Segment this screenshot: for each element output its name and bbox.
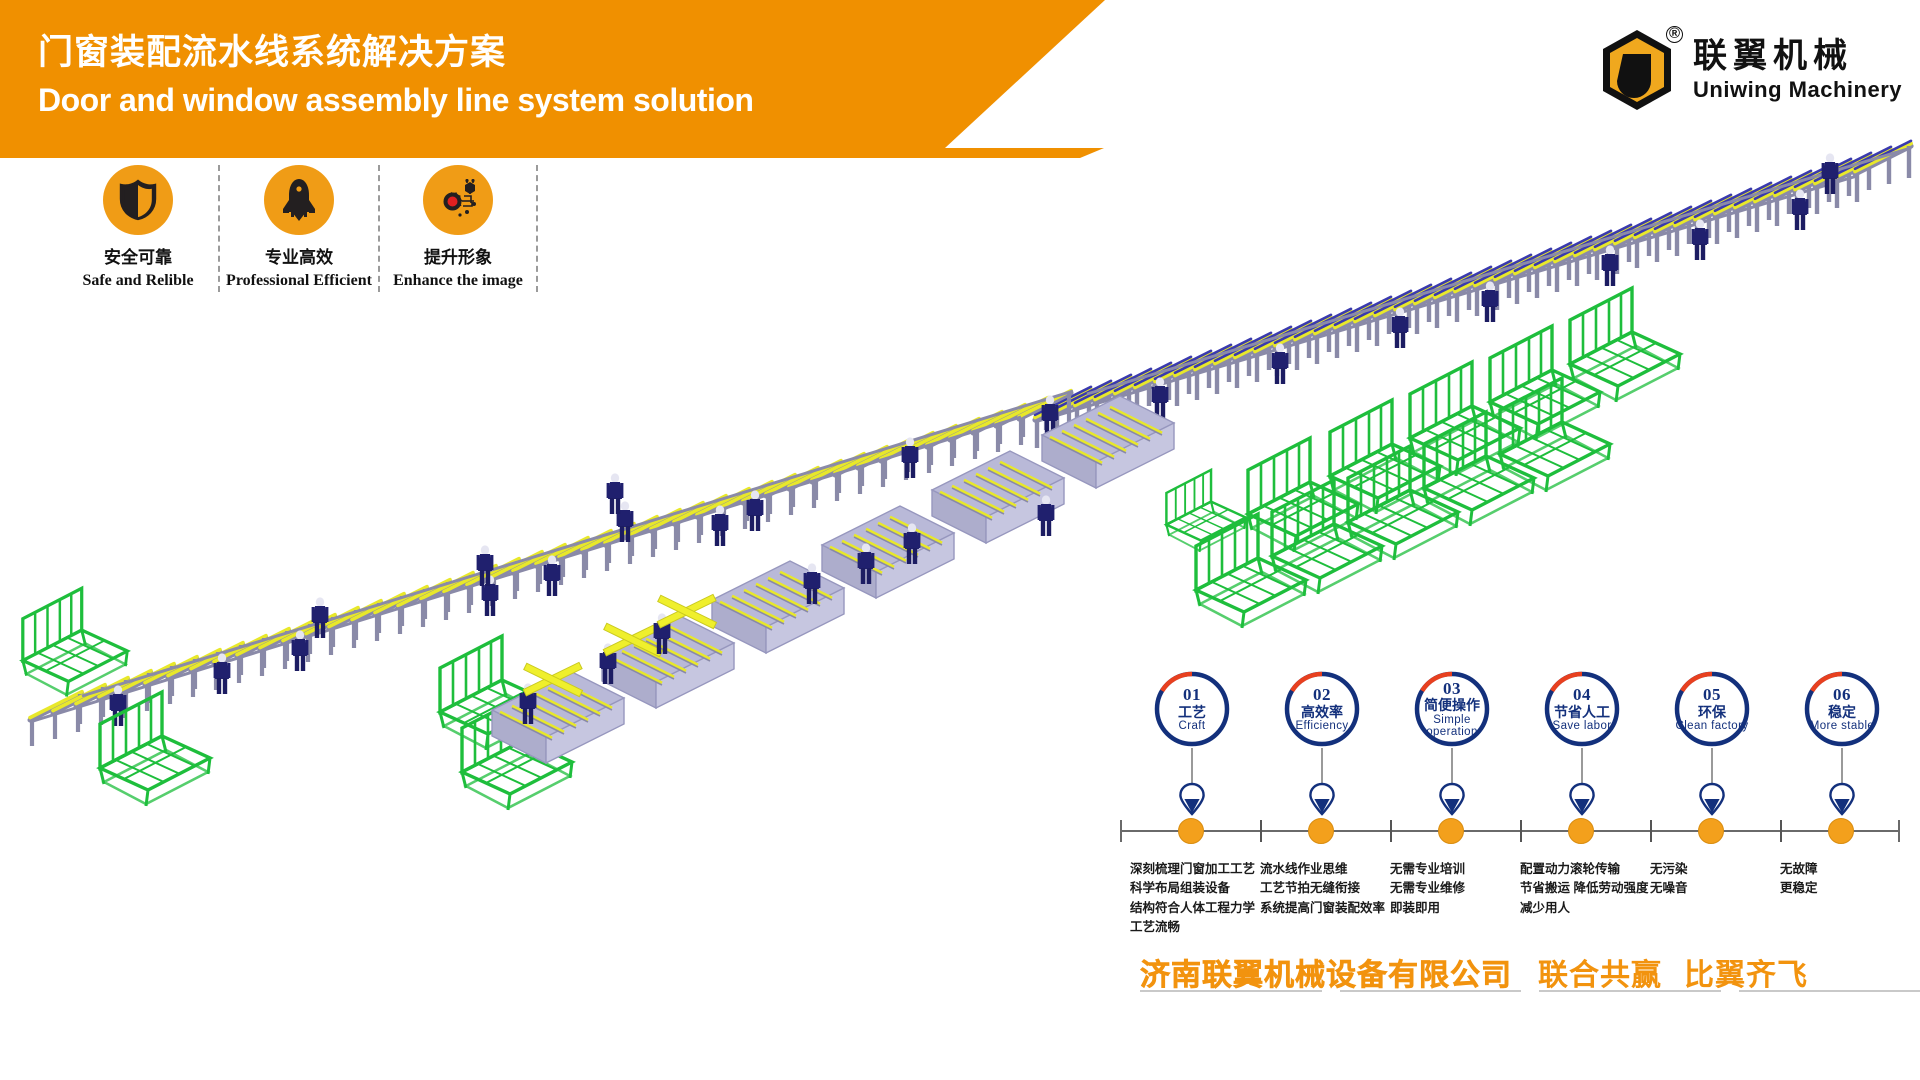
brand-name-cn: 联翼机械 — [1693, 37, 1902, 75]
page-title-cn: 门窗装配流水线系统解决方案 — [38, 34, 506, 73]
step-ring: 01 工艺 Craft — [1153, 670, 1231, 748]
step-description: 无故障 更稳定 — [1780, 860, 1920, 899]
uniwing-hexagon-u-logo-icon: ® — [1595, 24, 1679, 116]
step-number: 05 — [1703, 686, 1721, 704]
step-ring: 06 稳定 More stable — [1803, 670, 1881, 748]
step-stem — [1191, 748, 1193, 784]
poster-root: 门窗装配流水线系统解决方案 Door and window assembly l… — [0, 0, 1920, 1080]
company-name: 济南联翼机械设备有限公司 — [1140, 950, 1512, 994]
step-stem — [1581, 748, 1583, 784]
step-item-06[interactable]: 06 稳定 More stable 无故障 更稳定 — [1780, 670, 1904, 748]
page-title-en: Door and window assembly line system sol… — [38, 83, 753, 118]
slogan-part-2: 比翼齐飞 — [1684, 950, 1808, 994]
step-title-cn: 高效率 — [1301, 704, 1343, 720]
timeline-axis-start-cap — [1120, 820, 1122, 842]
map-pin-icon — [1438, 782, 1466, 816]
step-number: 06 — [1833, 686, 1851, 704]
step-title-en: Save labor — [1553, 720, 1612, 732]
step-ring-content: 06 稳定 More stable — [1803, 670, 1881, 748]
step-ring-content: 04 节省人工 Save labor — [1543, 670, 1621, 748]
step-ring-content: 03 简便操作 Simple operation — [1413, 670, 1491, 748]
step-item-04[interactable]: 04 节省人工 Save labor 配置动力滚轮传输 节省搬运 降低劳动强度 … — [1520, 670, 1644, 748]
step-item-05[interactable]: 05 环保 Clean factory 无污染 无噪音 — [1650, 670, 1774, 748]
step-item-03[interactable]: 03 简便操作 Simple operation 无需专业培训 无需专业维修 即… — [1390, 670, 1514, 748]
footer-slogan: 济南联翼机械设备有限公司 联合共赢 比翼齐飞 — [1140, 950, 1920, 994]
step-title-en: Simple operation — [1413, 714, 1491, 739]
timeline-dot — [1828, 818, 1854, 844]
map-pin-icon — [1828, 782, 1856, 816]
step-number: 01 — [1183, 686, 1201, 704]
timeline-dot — [1438, 818, 1464, 844]
step-number: 03 — [1443, 680, 1461, 698]
step-stem — [1841, 748, 1843, 784]
step-title-en: More stable — [1810, 720, 1874, 732]
step-title-en: Clean factory — [1676, 720, 1749, 732]
timeline-tick — [1390, 820, 1392, 842]
brand-name-en: Uniwing Machinery — [1693, 77, 1902, 102]
step-title-en: Efficiency — [1295, 720, 1348, 732]
map-pin-icon — [1308, 782, 1336, 816]
timeline-tick — [1520, 820, 1522, 842]
step-title-cn: 稳定 — [1828, 704, 1856, 720]
step-ring: 04 节省人工 Save labor — [1543, 670, 1621, 748]
map-pin-icon — [1698, 782, 1726, 816]
step-stem — [1451, 748, 1453, 784]
step-ring-content: 05 环保 Clean factory — [1673, 670, 1751, 748]
step-item-02[interactable]: 02 高效率 Efficiency 流水线作业思维 工艺节拍无缝衔接 系统提高门… — [1260, 670, 1384, 748]
timeline-tick — [1260, 820, 1262, 842]
step-title-cn: 环保 — [1698, 704, 1726, 720]
step-ring-content: 02 高效率 Efficiency — [1283, 670, 1361, 748]
step-item-01[interactable]: 01 工艺 Craft 深刻梳理门窗加工工艺 科学布局组装设备 结构符合人体工程… — [1130, 670, 1254, 748]
timeline-dot — [1568, 818, 1594, 844]
step-title-cn: 简便操作 — [1424, 697, 1480, 713]
timeline-tick — [1780, 820, 1782, 842]
step-stem — [1711, 748, 1713, 784]
timeline-dot — [1178, 818, 1204, 844]
brand-logo-text: 联翼机械 Uniwing Machinery — [1693, 37, 1902, 102]
timeline-tick — [1650, 820, 1652, 842]
map-pin-icon — [1568, 782, 1596, 816]
footer-divider — [1140, 990, 1920, 994]
step-number: 02 — [1313, 686, 1331, 704]
timeline-dot — [1698, 818, 1724, 844]
slogan-part-1: 联合共赢 — [1538, 950, 1662, 994]
step-stem — [1321, 748, 1323, 784]
step-title-cn: 工艺 — [1178, 704, 1206, 720]
step-ring: 03 简便操作 Simple operation — [1413, 670, 1491, 748]
brand-logo: ® 联翼机械 Uniwing Machinery — [1595, 24, 1902, 116]
step-ring-content: 01 工艺 Craft — [1153, 670, 1231, 748]
step-title-en: Craft — [1179, 720, 1206, 732]
step-title-cn: 节省人工 — [1554, 704, 1610, 720]
timeline-axis — [1120, 830, 1900, 832]
map-pin-icon — [1178, 782, 1206, 816]
step-number: 04 — [1573, 686, 1591, 704]
timeline-dot — [1308, 818, 1334, 844]
benefits-timeline: 01 工艺 Craft 深刻梳理门窗加工工艺 科学布局组装设备 结构符合人体工程… — [1120, 670, 1910, 970]
timeline-axis-end-cap — [1898, 820, 1900, 842]
step-ring: 05 环保 Clean factory — [1673, 670, 1751, 748]
step-ring: 02 高效率 Efficiency — [1283, 670, 1361, 748]
registered-trademark-icon: ® — [1666, 26, 1683, 43]
